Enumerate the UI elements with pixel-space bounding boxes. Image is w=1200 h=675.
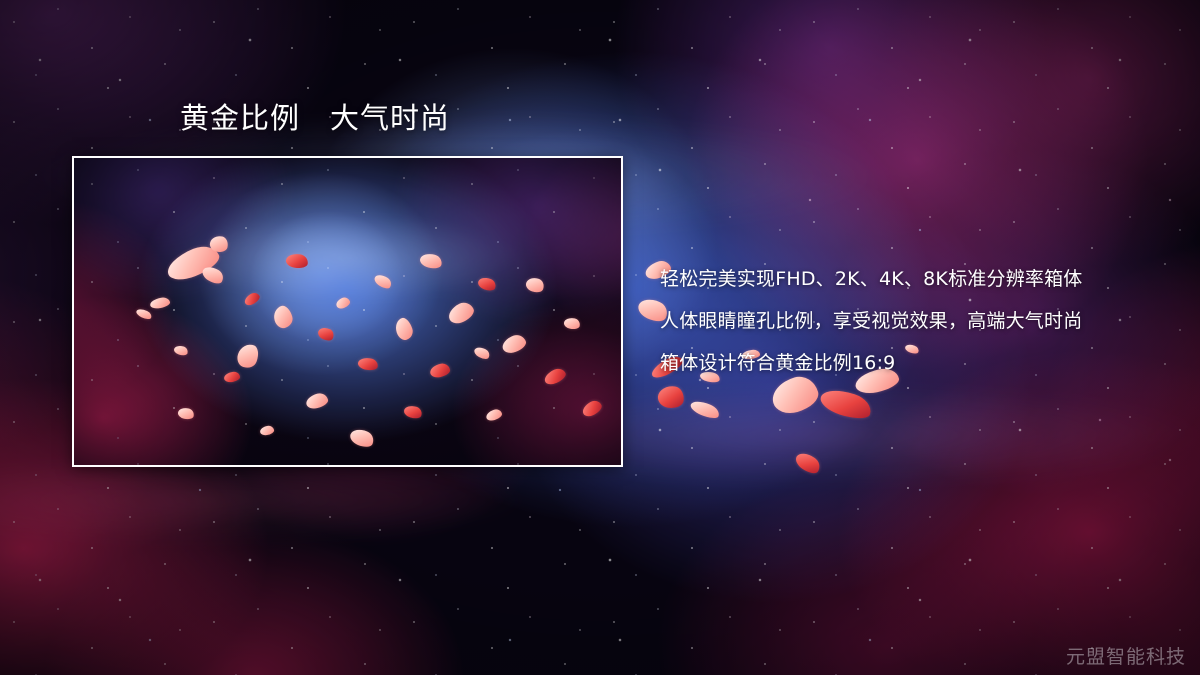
watermark-logo-text: 元盟智能科技 <box>1066 645 1186 669</box>
photo-image <box>74 158 621 465</box>
page-title: 黄金比例 大气时尚 <box>180 101 450 135</box>
body-text-block: 轻松完美实现FHD、2K、4K、8K标准分辨率箱体 人体眼睛瞳孔比例，享受视觉效… <box>660 258 1180 384</box>
photo-frame <box>72 156 623 467</box>
body-line-2: 人体眼睛瞳孔比例，享受视觉效果，高端大气时尚 <box>660 300 1180 342</box>
photo-vignette <box>74 158 621 465</box>
body-line-3: 箱体设计符合黄金比例16:9 <box>660 342 1180 384</box>
presentation-slide: 黄金比例 大气时尚 轻松完美实现FHD、2K、4K、8K标准分辨率箱体 人体眼睛… <box>0 0 1200 675</box>
body-line-1: 轻松完美实现FHD、2K、4K、8K标准分辨率箱体 <box>660 258 1180 300</box>
